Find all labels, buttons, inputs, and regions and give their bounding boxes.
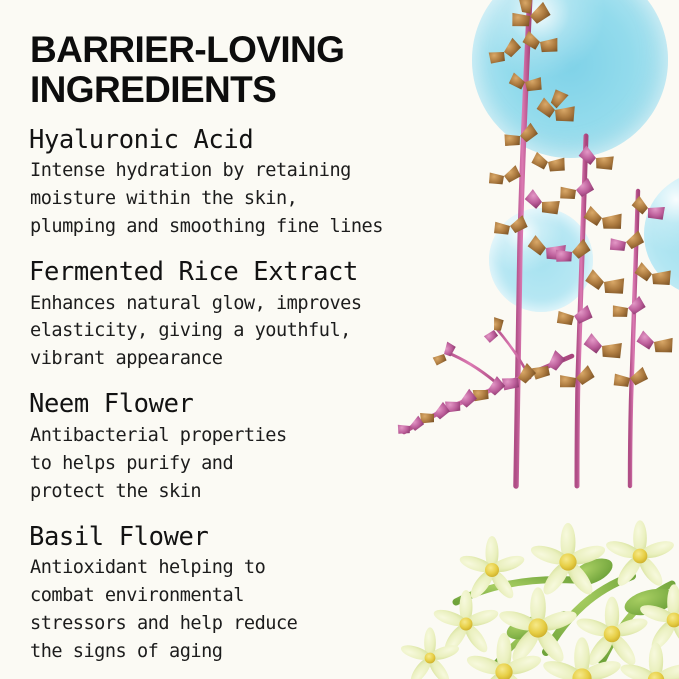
ingredient-description: Antioxidant helping to combat environmen… [30,554,470,666]
ingredient-block-basil-flower: Basil Flower Antioxidant helping to comb… [30,522,470,666]
ingredient-description: Intense hydration by retaining moisture … [30,157,470,241]
gel-bubble-small-icon [489,208,593,312]
ingredient-text-panel: BARRIER-LOVING INGREDIENTS Hyaluronic Ac… [0,0,470,671]
ingredient-description: Enhances natural glow, improves elastici… [30,290,470,374]
gel-bubble-large-icon [472,0,668,158]
ingredient-name: Neem Flower [29,389,470,421]
ingredient-description: Antibacterial properties to helps purify… [30,422,470,506]
page-title: BARRIER-LOVING INGREDIENTS [30,30,470,111]
neem-leaf-group [456,553,678,668]
ingredient-name: Hyaluronic Acid [29,125,470,157]
ingredient-block-fermented-rice-extract: Fermented Rice Extract Enhances natural … [30,257,470,373]
ingredient-name: Fermented Rice Extract [29,257,470,289]
ingredient-block-neem-flower: Neem Flower Antibacterial properties to … [30,389,470,505]
ingredient-name: Basil Flower [29,522,470,554]
ingredient-poster: BARRIER-LOVING INGREDIENTS Hyaluronic Ac… [0,0,679,679]
gel-bubble-edge-icon [644,172,679,296]
ingredient-block-hyaluronic-acid: Hyaluronic Acid Intense hydration by ret… [30,125,470,241]
